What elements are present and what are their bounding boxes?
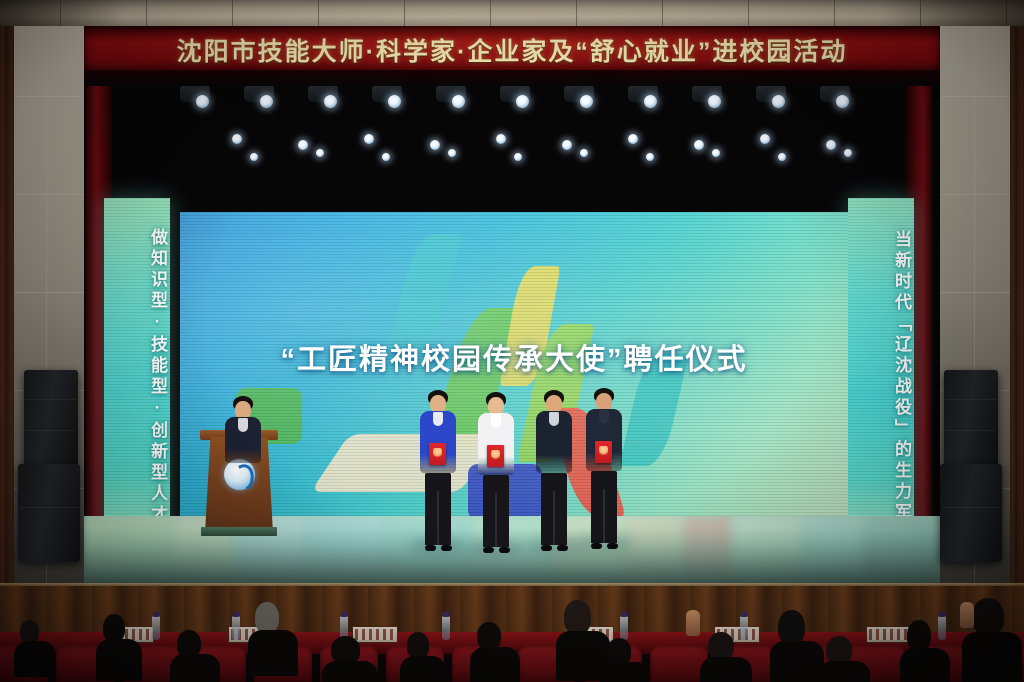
audience-shoulders: [322, 661, 378, 682]
audience-head: [407, 632, 429, 659]
stage-lamp: [452, 95, 465, 108]
stage-lamp: [316, 149, 324, 157]
audience-head: [778, 610, 805, 644]
left-speaker-stack-top: [24, 370, 78, 466]
water-bottle: [232, 616, 240, 640]
stage-lamp: [760, 134, 770, 144]
audience-member: [470, 622, 522, 682]
left-speaker-stack-bottom: [18, 464, 80, 562]
audience-member: [248, 602, 300, 668]
stage-lamp: [516, 95, 529, 108]
audience-head: [826, 636, 852, 664]
trouser-seam: [437, 491, 439, 545]
event-banner-text: 沈阳市技能大师·科学家·企业家及“舒心就业”进校园活动: [177, 32, 848, 68]
stage-lamp: [382, 153, 390, 161]
audience-shoulders: [770, 641, 824, 682]
stage-lamp: [196, 95, 209, 108]
trouser-seam: [553, 491, 555, 545]
stage-lamp: [324, 95, 337, 108]
audience-member: [400, 632, 448, 682]
person-shirt: [549, 412, 559, 426]
audience-head: [972, 598, 1004, 635]
audience-shoulders: [700, 657, 752, 682]
stage-lamp: [580, 149, 588, 157]
raised-hand: [686, 610, 700, 636]
auditorium-event-photo: 沈阳市技能大师·科学家·企业家及“舒心就业”进校园活动 做知识型·技能型·创新型…: [0, 0, 1024, 682]
audience-member: [600, 638, 652, 682]
bottle-cap: [341, 612, 347, 617]
audience-head: [255, 602, 279, 633]
person-shoe: [607, 543, 618, 549]
event-banner: 沈阳市技能大师·科学家·企业家及“舒心就业”进校园活动: [84, 26, 940, 74]
ceremony-title: “工匠精神校园传承大使”聘任仪式: [180, 336, 848, 378]
right-led-banner: 当新时代「辽沈战役」的生力军: [848, 198, 914, 542]
audience-member: [900, 620, 952, 682]
bottle-cap: [443, 612, 449, 617]
audience-head: [103, 614, 125, 642]
person-shoe: [499, 547, 510, 553]
raised-hand: [960, 602, 974, 628]
audience-shoulders: [818, 661, 870, 682]
stage-lamp: [514, 153, 522, 161]
audience-shoulders: [962, 632, 1022, 682]
stage-lamp: [260, 95, 273, 108]
audience-shoulders: [400, 656, 446, 682]
right-wood-trim: [1010, 26, 1024, 626]
audience-member: [818, 636, 872, 682]
audience-head: [20, 620, 39, 643]
stage-lamp: [778, 153, 786, 161]
award-certificate: [487, 445, 504, 467]
audience-head: [331, 636, 360, 664]
person-shirt: [599, 410, 609, 424]
person-shoe: [441, 545, 452, 551]
certificate-emblem: [491, 450, 500, 460]
stage-lamp: [694, 140, 704, 150]
stage-person-honoree-3: [583, 388, 625, 546]
stage-lamp: [448, 149, 456, 157]
stage-lamp: [646, 153, 654, 161]
right-speaker-stack-top: [944, 370, 998, 466]
bottle-cap: [621, 612, 627, 617]
stage-person-honoree-2: [475, 392, 517, 550]
audience-member: [322, 636, 380, 682]
audience-head: [177, 630, 201, 657]
stage-lamp: [826, 140, 836, 150]
left-wood-trim: [0, 26, 14, 626]
audience-shoulders: [170, 654, 220, 682]
stage-lamp: [298, 140, 308, 150]
stage-lamp: [644, 95, 657, 108]
bottle-cap: [939, 612, 945, 617]
audience-member: [96, 614, 144, 676]
certificate-emblem: [433, 448, 442, 458]
person-shoe: [557, 545, 568, 551]
award-certificate: [595, 441, 612, 463]
audience-area: [0, 586, 1024, 682]
audience-shoulders: [14, 641, 56, 677]
person-shirt: [433, 412, 443, 426]
audience-member: [14, 620, 58, 676]
right-speaker-stack-bottom: [940, 464, 1002, 562]
award-certificate: [429, 443, 446, 465]
bottle-cap: [233, 612, 239, 617]
person-shoe: [483, 547, 494, 553]
person-shoe: [591, 543, 602, 549]
stage-lamp: [628, 134, 638, 144]
trouser-seam: [495, 493, 497, 547]
audience-head: [564, 600, 591, 634]
stage-lamp: [388, 95, 401, 108]
audience-head: [907, 620, 931, 651]
stage-lamp: [364, 134, 374, 144]
stage-lamp: [580, 95, 593, 108]
audience-member: [170, 630, 222, 682]
bottle-cap: [741, 612, 747, 617]
stage-person-honoree-1: [417, 390, 459, 548]
audience-shoulders: [600, 662, 650, 682]
right-led-banner-text: 当新时代「辽沈战役」的生力军: [848, 222, 914, 532]
audience-member: [700, 632, 754, 682]
audience-head: [477, 622, 501, 650]
stage-lamp: [708, 95, 721, 108]
person-shoe: [541, 545, 552, 551]
banner-shadow: [84, 70, 940, 86]
person-shirt: [491, 414, 501, 428]
stage-person-official: [533, 390, 575, 548]
certificate-emblem: [599, 446, 608, 456]
water-bottle: [152, 616, 160, 640]
audience-shoulders: [96, 639, 142, 681]
person-shoe: [425, 545, 436, 551]
stage-lamp: [232, 134, 242, 144]
stage-lamp: [562, 140, 572, 150]
stage-lamp: [836, 95, 849, 108]
stage-person-speaker: [222, 396, 264, 466]
stage-lamp: [496, 134, 506, 144]
audience-head: [607, 638, 631, 665]
stage-lamp: [250, 153, 258, 161]
stage-lamp: [844, 149, 852, 157]
person-shirt: [238, 418, 248, 432]
left-led-banner-text: 做知识型·技能型·创新型人才: [104, 222, 170, 532]
stage-lamp: [772, 95, 785, 108]
stage-lamp: [430, 140, 440, 150]
audience-head: [708, 632, 734, 660]
audience-shoulders: [470, 647, 520, 682]
bottle-cap: [153, 612, 159, 617]
audience-shoulders: [900, 648, 950, 682]
left-led-banner: 做知识型·技能型·创新型人才: [104, 198, 170, 542]
stage-lamp: [712, 149, 720, 157]
audience-shoulders: [248, 630, 298, 676]
water-bottle: [620, 616, 628, 640]
trouser-seam: [603, 489, 605, 543]
lectern-base: [201, 527, 277, 536]
